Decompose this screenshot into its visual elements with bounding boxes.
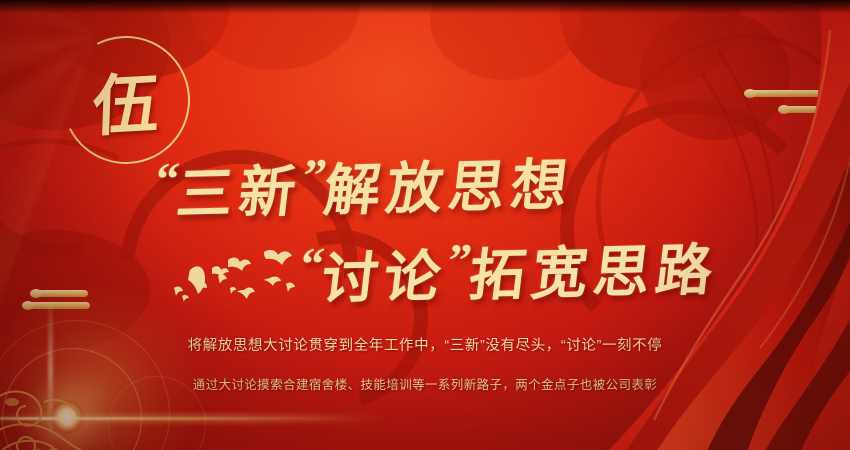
subtitle-line-1: 将解放思想大讨论贯穿到全年工作中，“三新”没有尽头，“讨论”一刻不停 bbox=[188, 334, 663, 355]
headline-line-2-quoted: 讨论 bbox=[318, 247, 450, 312]
headline-line-1-quoted: 三新 bbox=[173, 162, 305, 227]
banner-poster: 伍 “三新”解放思想 “讨论”拓宽思路 将解放思想大讨论贯穿到全年工作中，“三新… bbox=[0, 0, 850, 450]
top-edge-fade bbox=[0, 0, 850, 14]
headline-line-2-rest: 拓宽思路 bbox=[466, 240, 722, 308]
headline-line-1-rest: 解放思想 bbox=[321, 155, 577, 223]
subtitle-line-2: 通过大讨论摸索合建宿舍楼、技能培训等一系列新路子，两个金点子也被公司表彰 bbox=[193, 374, 657, 393]
headline-line-1: “三新”解放思想 bbox=[150, 140, 579, 231]
headline-line-2: “讨论”拓宽思路 bbox=[295, 225, 724, 316]
